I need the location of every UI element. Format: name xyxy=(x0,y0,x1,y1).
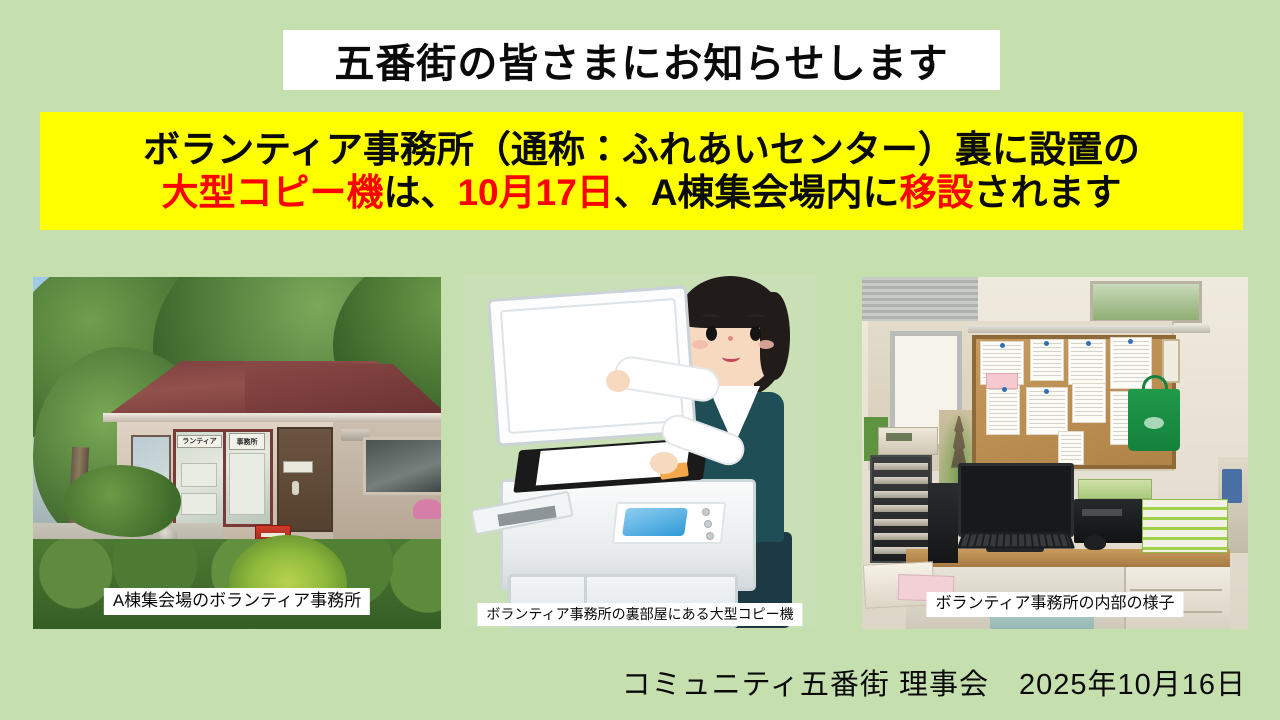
banner-plain-3: されます xyxy=(974,172,1122,213)
organizer-slot xyxy=(874,519,928,526)
pushpin-icon xyxy=(1044,341,1049,346)
door-handle xyxy=(292,481,299,495)
office-sign-left: ランティア xyxy=(177,435,222,448)
organizer-slot xyxy=(874,491,928,498)
keyboard-keys xyxy=(961,534,1071,546)
ceiling-rail xyxy=(968,325,1210,333)
window-mullion xyxy=(223,429,226,527)
organizer-slot xyxy=(874,533,928,540)
window-notice xyxy=(181,493,217,515)
notice-poster: 五番街の皆さまにお知らせします ボランティア事務所（通称：ふれあいセンター）裏に… xyxy=(0,0,1280,720)
photo-caption: ボランティア事務所の裏部屋にある大型コピー機 xyxy=(477,603,802,626)
hand xyxy=(650,452,678,474)
document-trays xyxy=(1142,499,1228,553)
poster-title-box: 五番街の皆さまにお知らせします xyxy=(283,30,1000,90)
posted-notice xyxy=(1026,387,1068,435)
copier-button xyxy=(702,508,710,516)
keyboard xyxy=(957,532,1075,548)
tote-bag-logo xyxy=(1144,417,1164,429)
page-title: 五番街の皆さまにお知らせします xyxy=(334,31,948,89)
banner-highlight-date: 10月17日 xyxy=(457,172,613,213)
hand xyxy=(606,370,630,392)
right-window xyxy=(363,437,441,495)
announcement-banner: ボランティア事務所（通称：ふれあいセンター）裏に設置の 大型コピー機は、10月1… xyxy=(40,112,1243,230)
roof-eave xyxy=(103,413,441,422)
printer-control-panel xyxy=(1082,509,1122,516)
pc-tower xyxy=(928,483,958,563)
pushpin-icon xyxy=(1044,389,1049,394)
mouth xyxy=(722,352,740,362)
posted-notice xyxy=(986,385,1020,435)
banner-highlight-copier: 大型コピー機 xyxy=(161,172,383,213)
eye xyxy=(750,326,761,341)
pushpin-icon xyxy=(1000,343,1005,348)
bicycle xyxy=(413,499,441,519)
eyebrow xyxy=(702,314,720,320)
upper-window xyxy=(1090,281,1202,323)
posted-notice xyxy=(1058,431,1084,465)
document-folders xyxy=(1078,479,1152,499)
banner-highlight-relocation: 移設 xyxy=(900,172,974,213)
photo-caption: ボランティア事務所の内部の様子 xyxy=(926,592,1183,617)
window-notice xyxy=(181,463,217,487)
photo-volunteer-office-interior: ボランティア事務所の内部の様子 xyxy=(862,277,1248,629)
hair-side xyxy=(760,292,790,380)
pushpin-icon xyxy=(1086,341,1091,346)
copier-button xyxy=(704,520,712,528)
photo-caption: A棟集会場のボランティア事務所 xyxy=(104,588,370,615)
copier-button xyxy=(706,532,714,540)
fax-display xyxy=(886,433,912,441)
footer-signature: コミュニティ五番街 理事会 2025年10月16日 xyxy=(622,661,1246,703)
hanging-scroll xyxy=(1162,339,1180,383)
organizer-slot xyxy=(874,505,928,512)
banner-plain-2: 、A棟集会場内に xyxy=(614,172,900,213)
door-nameplate xyxy=(283,461,313,473)
shrub xyxy=(63,465,181,537)
cheek-blush xyxy=(692,340,708,349)
office-sign-right: 事務所 xyxy=(229,433,265,450)
eye xyxy=(706,326,717,341)
banner-line-1: ボランティア事務所（通称：ふれあいセンター）裏に設置の xyxy=(143,129,1140,170)
eyebrow xyxy=(746,314,764,320)
blue-binder xyxy=(1222,469,1242,503)
banner-plain-1: は、 xyxy=(383,172,457,213)
fax-machine xyxy=(878,427,938,455)
banner-line-2: 大型コピー機は、10月17日、A棟集会場内に移設されます xyxy=(161,172,1121,213)
organizer-slot xyxy=(874,477,928,484)
pushpin-icon xyxy=(1002,387,1007,392)
entrance-door xyxy=(277,427,333,532)
window-blinds xyxy=(862,277,978,321)
organizer-slot xyxy=(874,463,928,470)
poster-footer: コミュニティ五番街 理事会 2025年10月16日 xyxy=(0,658,1280,706)
cheek-blush xyxy=(758,340,774,349)
photo-volunteer-office-exterior: ランティア 事務所 A棟集会場のボランティア事務所 xyxy=(33,277,441,629)
window-notice xyxy=(229,453,265,515)
pushpin-icon xyxy=(1128,339,1133,344)
nose xyxy=(728,336,733,341)
photo-large-copier-illustration: ボランティア事務所の裏部屋にある大型コピー機 xyxy=(464,274,816,628)
computer-monitor xyxy=(958,463,1074,537)
copier-lcd-screen xyxy=(622,508,688,536)
posted-notice xyxy=(1072,383,1106,423)
mouse xyxy=(1084,535,1106,550)
